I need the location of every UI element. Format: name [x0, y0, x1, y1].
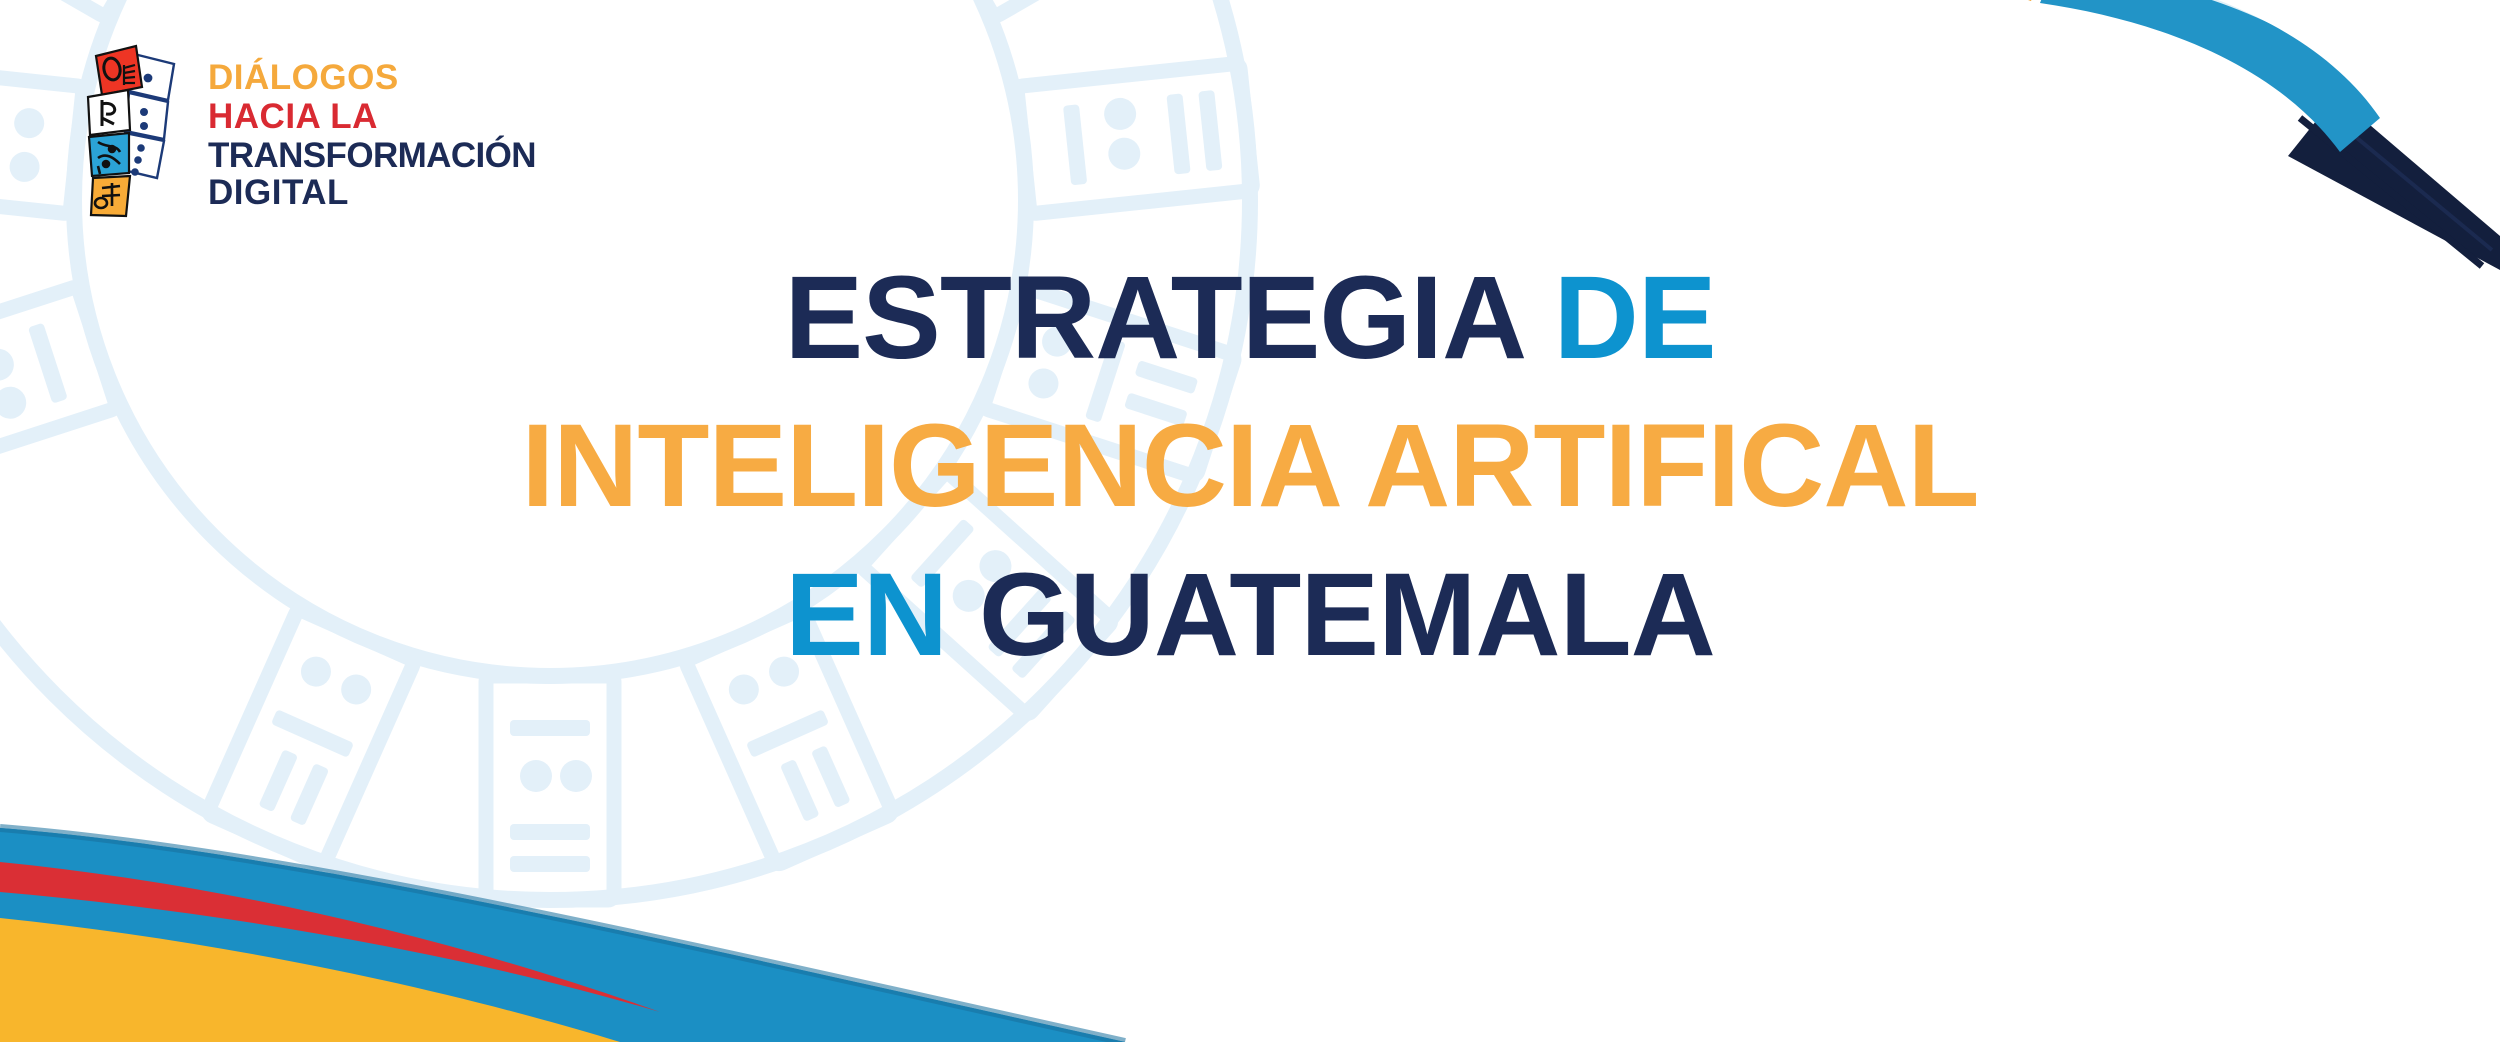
- brand-line-hacia-la: HACIA LA: [208, 99, 536, 134]
- title-line-2: INTELIGENCIA ARTIFICAL: [0, 406, 2500, 526]
- title-word-de: DE: [1554, 252, 1716, 384]
- brand-wordmark: DIÁLOGOS HACIA LA TRANSFORMACIÓN DIGITAL: [208, 38, 536, 210]
- mayan-glyph-fan-icon: [72, 38, 194, 223]
- title-slide: DIÁLOGOS HACIA LA TRANSFORMACIÓN DIGITAL…: [0, 0, 2500, 1042]
- title-word-guatemala: GUATEMALA: [979, 549, 1715, 681]
- brand-line-dialogos: DIÁLOGOS: [208, 60, 536, 95]
- title-word-en: EN: [785, 549, 947, 681]
- brand-line-transformacion: TRANSFORMACIÓN: [208, 138, 536, 173]
- curved-colored-ribbon: [1740, 0, 2500, 270]
- title-word-estrategia: ESTRATEGIA: [784, 252, 1521, 384]
- title-line-3: EN GUATEMALA: [0, 555, 2500, 675]
- page-title: ESTRATEGIA DE INTELIGENCIA ARTIFICAL EN …: [0, 258, 2500, 675]
- title-word-inteligencia-artifical: INTELIGENCIA ARTIFICAL: [521, 400, 1978, 532]
- title-line-1: ESTRATEGIA DE: [0, 258, 2500, 378]
- brand-lockup: DIÁLOGOS HACIA LA TRANSFORMACIÓN DIGITAL: [72, 38, 536, 223]
- brand-line-digital: DIGITAL: [208, 175, 536, 210]
- layered-wave-bands: [0, 712, 1300, 1042]
